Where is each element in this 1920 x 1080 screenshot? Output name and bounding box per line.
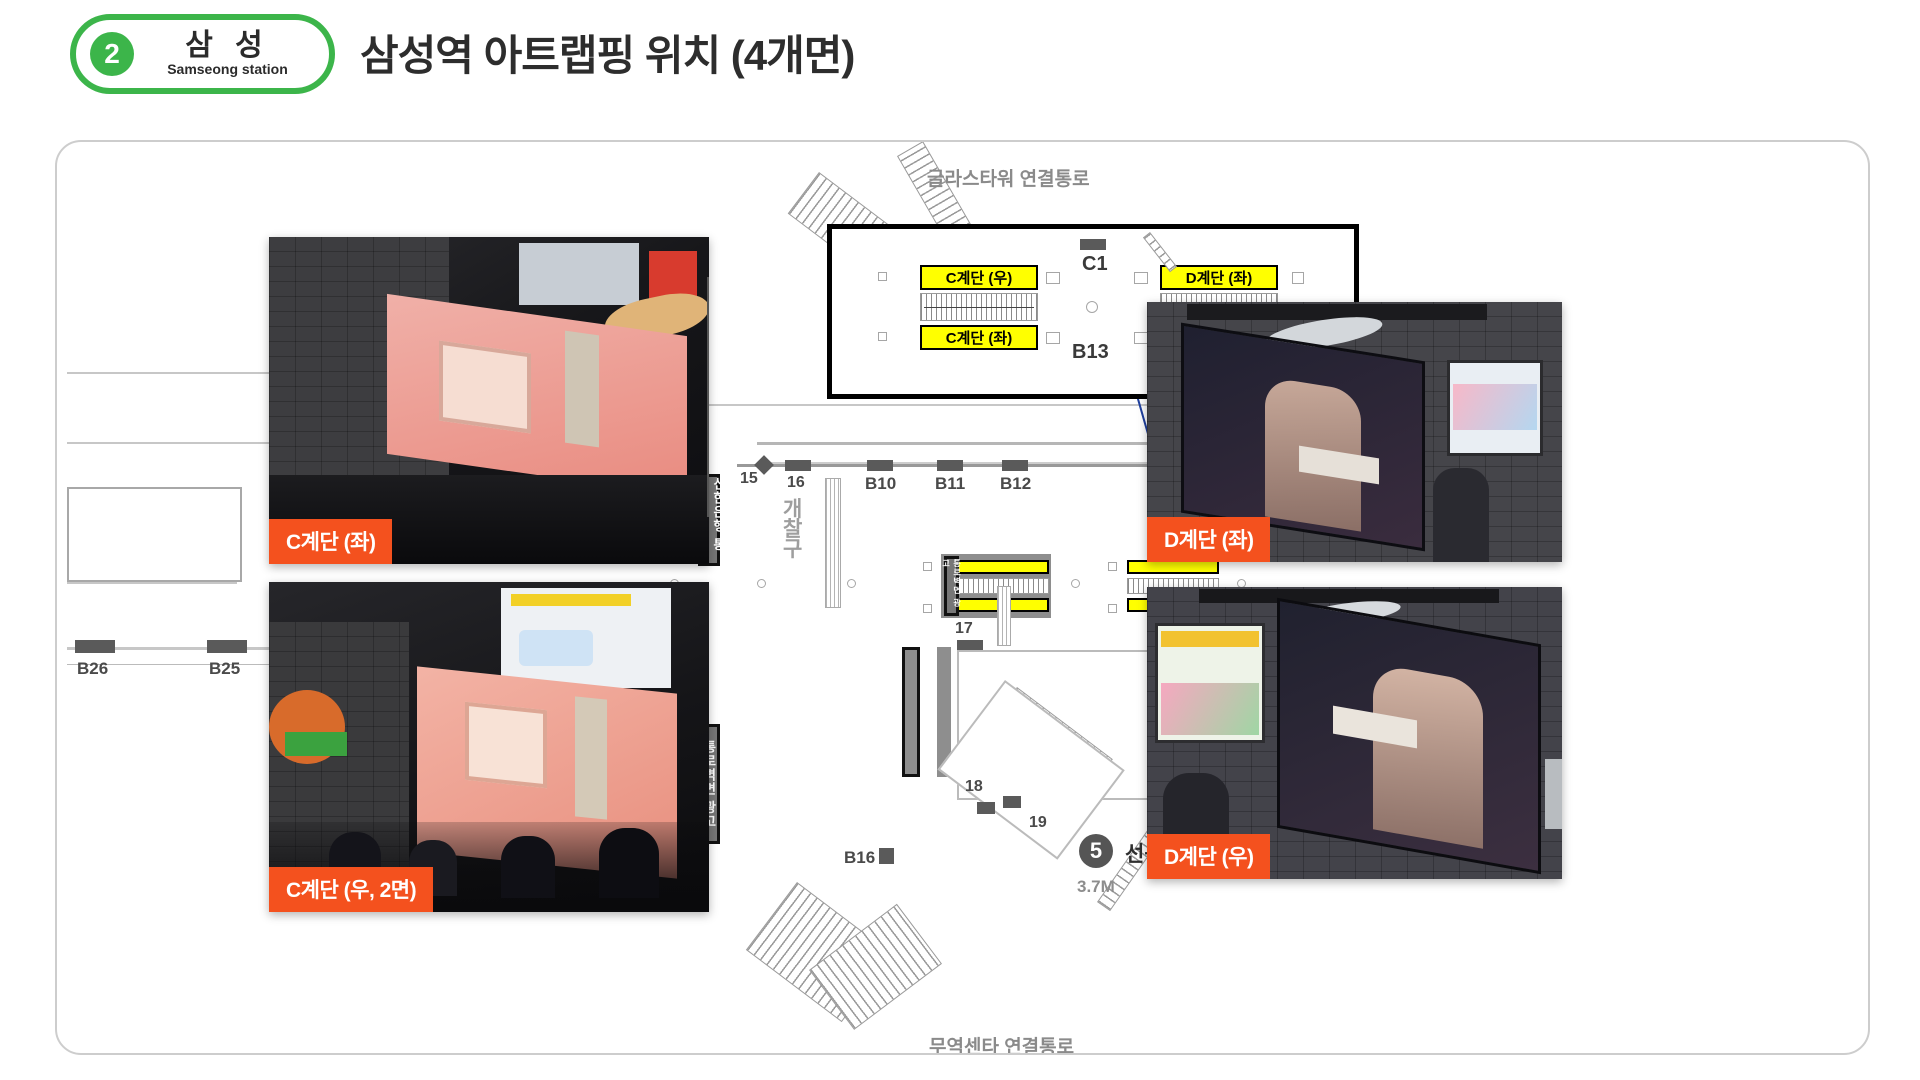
- fp-marker-b26: [75, 640, 115, 653]
- callout-sq-c-1: [878, 272, 887, 281]
- photo-c-left-edge: [707, 277, 709, 517]
- photo-d-right-edge-panel: [1545, 759, 1562, 829]
- photo-c-left-caption: C계단 (좌): [269, 519, 392, 564]
- photo-d-left[interactable]: D계단 (좌): [1147, 302, 1562, 562]
- callout-label-c1: C1: [1082, 253, 1108, 276]
- label-b12: B12: [1000, 474, 1031, 494]
- fp-marker-18: [977, 802, 995, 814]
- photo-c-right-ad-bar: [511, 594, 631, 606]
- label-b16: B16: [844, 848, 875, 868]
- photo-c-left-window-art: [439, 341, 531, 434]
- station-name-ko: 삼 성: [185, 30, 270, 62]
- exit-5-distance: 3.7M: [1077, 877, 1115, 897]
- label-b25: B25: [209, 659, 240, 679]
- fp-dot-4: [1071, 579, 1080, 588]
- fp-yellow-d-left: [1127, 560, 1219, 574]
- photo-c-right[interactable]: C계단 (우, 2면): [269, 582, 709, 912]
- fp-room-upper-left: [67, 487, 242, 582]
- fp-escalator-ticks: [825, 478, 841, 608]
- photo-c-right-caption: C계단 (우, 2면): [269, 867, 433, 912]
- photo-d-right-caption: D계단 (우): [1147, 834, 1270, 879]
- photo-d-left-side-screen-art: [1453, 384, 1537, 430]
- fp-escalator-ticks-2: [997, 586, 1011, 646]
- label-15: 15: [740, 470, 758, 488]
- photo-d-right-ad-headline: [1161, 631, 1259, 647]
- fp-yellow-c-right: [957, 560, 1049, 574]
- content-panel: B26 B25 B24 15 16 B10 B11 B12 C1 B13: [55, 140, 1870, 1055]
- fp-marker-b25: [207, 640, 247, 653]
- station-names: 삼 성 Samseong station: [134, 30, 329, 77]
- callout-sq-c-4: [1046, 332, 1060, 344]
- station-name-en: Samseong station: [167, 61, 288, 78]
- photo-c-right-person-3: [501, 836, 555, 898]
- label-18: 18: [965, 778, 983, 796]
- slide-root: 2 삼 성 Samseong station 삼성역 아트랩핑 위치 (4개면)…: [0, 0, 1920, 1080]
- label-16: 16: [787, 474, 805, 492]
- photo-d-right[interactable]: D계단 (우): [1147, 587, 1562, 879]
- photo-d-right-model: [1373, 663, 1483, 848]
- callout-label-c-left: C계단 (좌): [920, 325, 1038, 350]
- label-ticket-gate: 개찰구: [783, 500, 802, 560]
- slide-header: 2 삼 성 Samseong station 삼성역 아트랩핑 위치 (4개면): [0, 0, 1920, 110]
- fp-wall-left-lower: [67, 582, 237, 584]
- callout-label-d-left: D계단 (좌): [1160, 265, 1278, 290]
- fp-marker-b12: [1002, 460, 1028, 471]
- fp-sq-1: [923, 562, 932, 571]
- photo-d-left-person: [1433, 468, 1489, 562]
- label-b26: B26: [77, 659, 108, 679]
- photo-d-left-caption: D계단 (좌): [1147, 517, 1270, 562]
- callout-label-b13: B13: [1072, 341, 1109, 364]
- photo-c-right-sign-green: [285, 732, 347, 756]
- fp-marker-b10: [867, 460, 893, 471]
- fp-sq-2: [923, 604, 932, 613]
- fp-bar-left-lower: [902, 647, 920, 777]
- photo-d-right-ad-image: [1161, 683, 1259, 735]
- fp-marker-19: [1003, 796, 1021, 808]
- label-trade-center-corridor: 무역센타 연결통로: [929, 1032, 1074, 1055]
- label-17: 17: [955, 620, 973, 638]
- fp-marker-b16: [879, 848, 894, 864]
- callout-sq-d-2: [1134, 332, 1148, 344]
- photo-c-right-window-art: [465, 702, 547, 789]
- fp-dot-3: [847, 579, 856, 588]
- exit-5-icon: 5: [1079, 834, 1113, 868]
- photo-d-right-ceiling: [1199, 589, 1499, 603]
- label-19: 19: [1029, 814, 1047, 832]
- vertical-bar-center: 통로벽면 광고: [944, 556, 959, 616]
- callout-sq-d-1: [1134, 272, 1148, 284]
- photo-c-left-ceiling-panel: [519, 243, 639, 305]
- fp-marker-b11: [937, 460, 963, 471]
- callout-label-c-right: C계단 (우): [920, 265, 1038, 290]
- station-badge: 2 삼 성 Samseong station: [70, 14, 335, 94]
- fp-sq-3: [1108, 562, 1117, 571]
- photo-c-right-person-4: [599, 828, 659, 898]
- page-title: 삼성역 아트랩핑 위치 (4개면): [360, 22, 854, 83]
- label-b10: B10: [865, 474, 896, 494]
- fp-sq-4: [1108, 604, 1117, 613]
- label-glass-tower-corridor: 글라스타워 연결통로: [927, 164, 1090, 191]
- callout-sq-d-3: [1292, 272, 1304, 284]
- photo-c-right-figure: [575, 696, 607, 819]
- callout-stair-arrow-c: [924, 307, 1034, 308]
- callout-sq-c-2: [878, 332, 887, 341]
- line-number-icon: 2: [90, 32, 134, 76]
- callout-marker-c1: [1080, 239, 1106, 250]
- photo-c-right-ad-product: [519, 630, 593, 666]
- photo-c-left-figure: [565, 331, 599, 448]
- fp-dot-2: [757, 579, 766, 588]
- photo-c-left[interactable]: C계단 (좌): [269, 237, 709, 564]
- label-b11: B11: [935, 474, 965, 494]
- callout-sq-c-3: [1046, 272, 1060, 284]
- callout-dot: [1086, 301, 1098, 313]
- fp-marker-16: [785, 460, 811, 471]
